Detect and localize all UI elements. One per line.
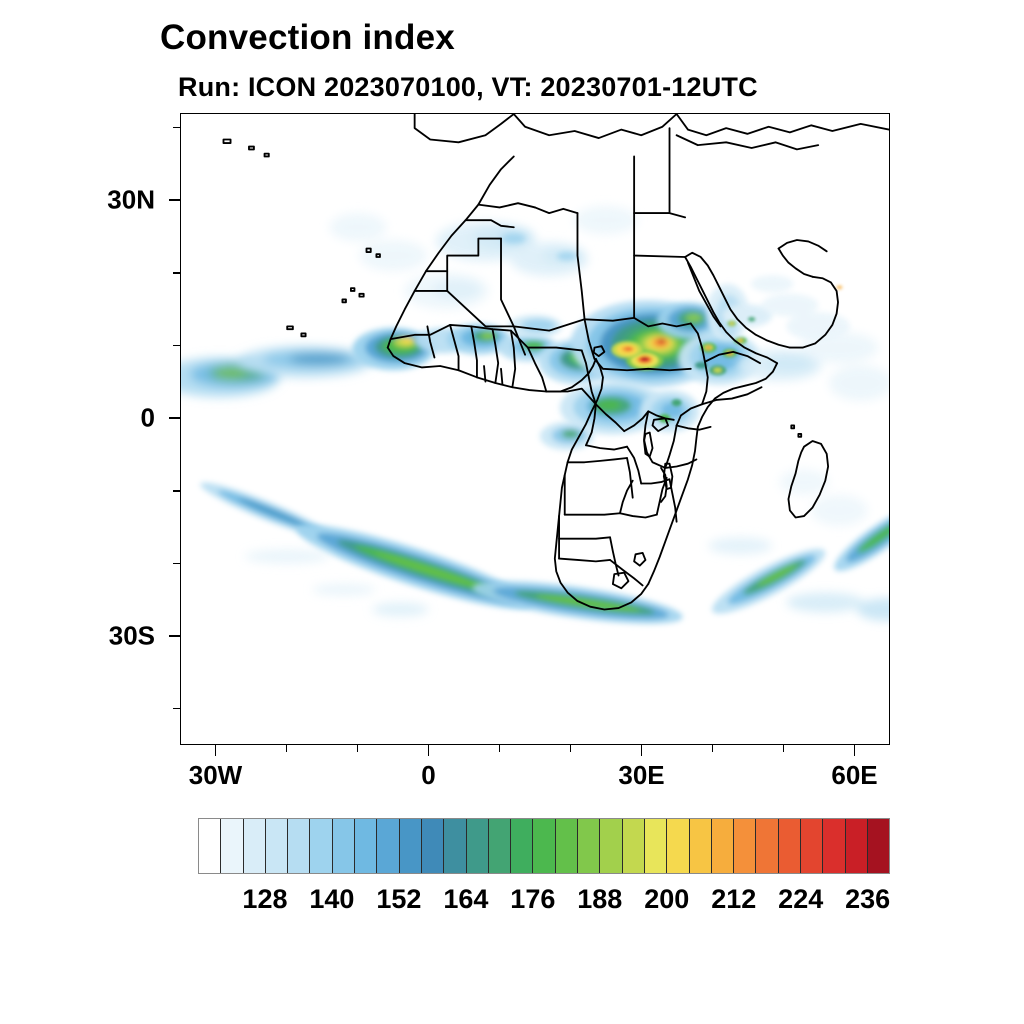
colorbar-label-200: 200 bbox=[644, 884, 689, 915]
colorbar-label-128: 128 bbox=[242, 884, 287, 915]
colorbar-segment-2 bbox=[244, 819, 266, 873]
y-axis-label-0: 0 bbox=[0, 403, 155, 434]
colorbar-label-212: 212 bbox=[711, 884, 756, 915]
y-axis-label-30S: 30S bbox=[0, 621, 155, 652]
colorbar-segment-14 bbox=[511, 819, 533, 873]
colorbar-label-236: 236 bbox=[845, 884, 890, 915]
x-tick-10 bbox=[499, 745, 501, 752]
y-tick--40 bbox=[173, 708, 180, 710]
colorbar-segment-25 bbox=[756, 819, 778, 873]
x-axis-label-0: 0 bbox=[421, 760, 435, 791]
map-plot-area bbox=[180, 113, 890, 745]
colorbar-segment-15 bbox=[533, 819, 555, 873]
colorbar-segment-20 bbox=[645, 819, 667, 873]
colorbar-label-152: 152 bbox=[376, 884, 421, 915]
colorbar-segment-0 bbox=[199, 819, 221, 873]
y-tick-40 bbox=[173, 127, 180, 129]
x-axis-label-60E: 60E bbox=[831, 760, 877, 791]
colorbar-segment-13 bbox=[489, 819, 511, 873]
colorbar-label-164: 164 bbox=[443, 884, 488, 915]
y-tick-30 bbox=[169, 199, 180, 201]
colorbar-label-188: 188 bbox=[577, 884, 622, 915]
map-svg bbox=[181, 114, 889, 744]
colorbar-segment-9 bbox=[400, 819, 422, 873]
colorbar-segment-10 bbox=[422, 819, 444, 873]
colorbar-segment-30 bbox=[868, 819, 889, 873]
colorbar-segment-23 bbox=[712, 819, 734, 873]
y-tick--10 bbox=[173, 490, 180, 492]
colorbar-segment-16 bbox=[556, 819, 578, 873]
x-axis-label-30E: 30E bbox=[618, 760, 664, 791]
x-tick--20 bbox=[286, 745, 288, 752]
colorbar-segment-4 bbox=[288, 819, 310, 873]
colorbar-segment-7 bbox=[355, 819, 377, 873]
x-tick-50 bbox=[783, 745, 785, 752]
y-tick--20 bbox=[173, 563, 180, 565]
colorbar-segment-6 bbox=[333, 819, 355, 873]
colorbar[interactable] bbox=[198, 818, 890, 874]
y-axis-label-30N: 30N bbox=[0, 185, 155, 216]
colorbar-segment-26 bbox=[779, 819, 801, 873]
colorbar-segment-3 bbox=[266, 819, 288, 873]
colorbar-label-176: 176 bbox=[510, 884, 555, 915]
run-subtitle: Run: ICON 2023070100, VT: 20230701-12UTC bbox=[178, 72, 758, 103]
colorbar-segment-18 bbox=[600, 819, 622, 873]
colorbar-segment-29 bbox=[846, 819, 868, 873]
colorbar-segment-27 bbox=[801, 819, 823, 873]
colorbar-segment-24 bbox=[734, 819, 756, 873]
colorbar-segment-21 bbox=[667, 819, 689, 873]
x-tick-40 bbox=[712, 745, 714, 752]
colorbar-segment-17 bbox=[578, 819, 600, 873]
y-tick-20 bbox=[173, 272, 180, 274]
y-tick-0 bbox=[169, 417, 180, 419]
colorbar-segment-11 bbox=[444, 819, 466, 873]
colorbar-label-224: 224 bbox=[778, 884, 823, 915]
colorbar-segment-1 bbox=[221, 819, 243, 873]
x-axis-label-30W: 30W bbox=[189, 760, 242, 791]
x-tick--30 bbox=[215, 745, 217, 756]
colorbar-segment-28 bbox=[823, 819, 845, 873]
x-tick-60 bbox=[854, 745, 856, 756]
colorbar-segment-19 bbox=[623, 819, 645, 873]
colorbar-segment-5 bbox=[310, 819, 332, 873]
y-tick-10 bbox=[173, 345, 180, 347]
page-title: Convection index bbox=[160, 18, 455, 58]
x-tick-0 bbox=[428, 745, 430, 756]
colorbar-segment-22 bbox=[690, 819, 712, 873]
colorbar-segment-8 bbox=[377, 819, 399, 873]
x-tick-20 bbox=[570, 745, 572, 752]
colorbar-label-140: 140 bbox=[309, 884, 354, 915]
y-tick--30 bbox=[169, 635, 180, 637]
x-tick--10 bbox=[357, 745, 359, 752]
x-tick-30 bbox=[641, 745, 643, 756]
colorbar-segment-12 bbox=[467, 819, 489, 873]
